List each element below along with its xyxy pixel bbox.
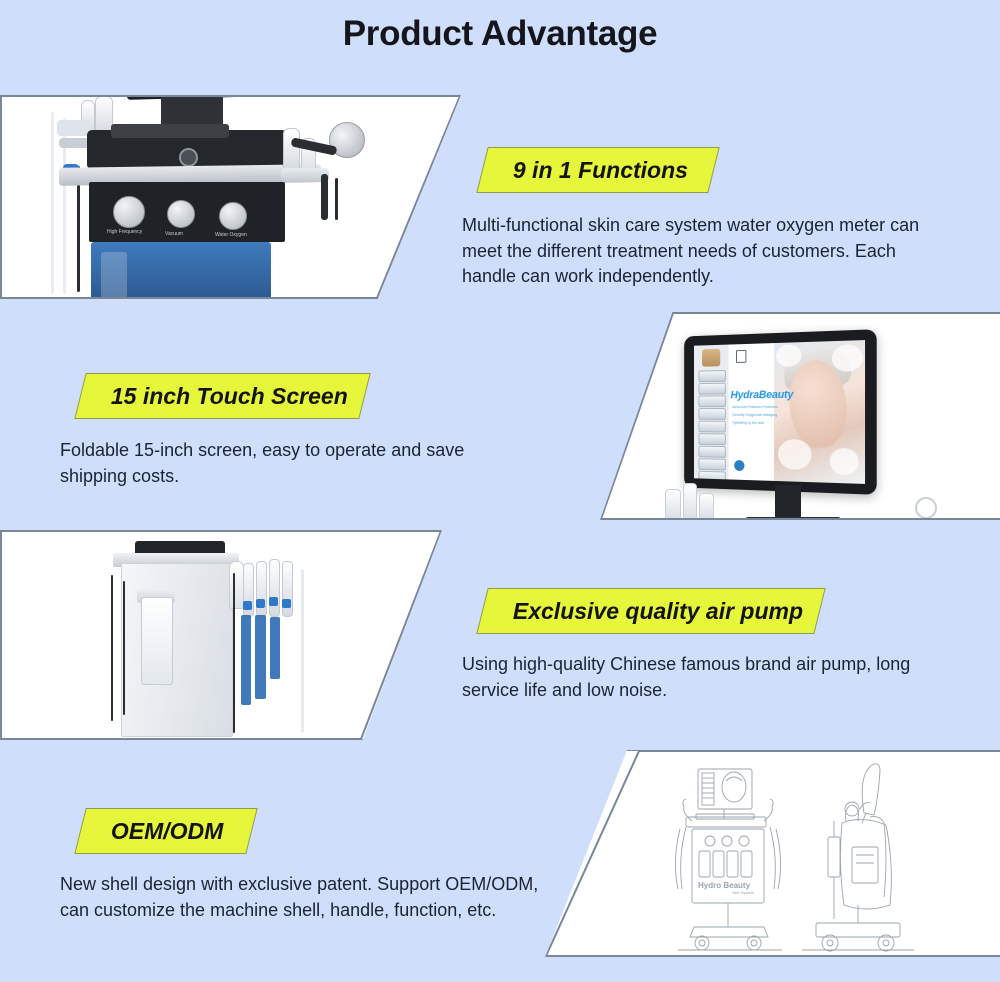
product-photo-touch-screen: HydraBeauty Advanced Platinum Protection…	[600, 312, 1000, 520]
badge-label: Exclusive quality air pump	[483, 598, 803, 625]
screen-menu-button[interactable]	[698, 395, 725, 407]
screen-model-photo	[774, 340, 865, 484]
monitor-screen: HydraBeauty Advanced Platinum Protection…	[694, 340, 865, 484]
black-hose-loop	[111, 575, 113, 721]
machine-illustration-side	[93, 539, 323, 739]
dial-high-frequency	[113, 196, 145, 228]
accessory-handle-c	[699, 493, 714, 520]
badge-oem-odm: OEM/ODM	[74, 808, 257, 854]
accessory-ring	[915, 497, 937, 519]
badge-exclusive-quality-air-pump: Exclusive quality air pump	[476, 588, 825, 634]
handle-cap-1	[243, 601, 252, 610]
wand-dark	[321, 174, 328, 220]
center-tube-dark	[233, 573, 235, 733]
accessory-handle-b	[683, 483, 697, 520]
clear-tube-right	[301, 569, 304, 733]
drawing-sub-caption: Skin System	[732, 890, 755, 895]
photo-canvas-3	[1, 531, 441, 739]
badge-label: OEM/ODM	[81, 818, 223, 845]
dial-label-vacuum: Vacuum	[165, 231, 183, 237]
product-photo-patent-drawings: Hydro Beauty Skin System	[545, 750, 1000, 957]
water-splash	[830, 448, 859, 476]
screen-subtitle-line: Detoxify Oxygenate Antiaging	[732, 413, 777, 417]
monitor-illustration: HydraBeauty Advanced Platinum Protection…	[657, 321, 957, 516]
screen-menu-button[interactable]	[698, 370, 725, 382]
control-panel: High Frequency Vacuum Water Oxygen	[89, 182, 285, 242]
machine-illustration-front: High Frequency Vacuum Water Oxygen	[29, 95, 359, 299]
left-manifold	[57, 120, 91, 136]
tank-highlight	[101, 252, 127, 299]
drawing-caption: Hydro Beauty	[698, 881, 751, 890]
description-15-inch-touch-screen: Foldable 15-inch screen, easy to operate…	[60, 438, 530, 489]
description-exclusive-quality-air-pump: Using high-quality Chinese famous brand …	[462, 652, 932, 703]
water-splash	[832, 344, 863, 372]
sidebar-avatar-icon	[702, 349, 720, 367]
monitor-stand-neck	[775, 485, 801, 520]
screen-menu-button[interactable]	[698, 383, 725, 395]
dial-water-oxygen	[219, 202, 247, 230]
screen-menu-button[interactable]	[698, 446, 725, 458]
screen-menu-button[interactable]	[698, 421, 725, 433]
screen-menu-button[interactable]	[698, 408, 725, 420]
handle-slot-3	[269, 559, 280, 617]
dial-vacuum	[167, 200, 195, 228]
patent-line-drawing-svg: Hydro Beauty Skin System	[546, 751, 1000, 956]
screen-footer-icon	[734, 460, 744, 471]
photo-canvas-2: HydraBeauty Advanced Platinum Protection…	[601, 313, 1000, 519]
screen-header-icon	[736, 350, 746, 363]
page-title: Product Advantage	[0, 14, 1000, 54]
photo-canvas-1: High Frequency Vacuum Water Oxygen	[1, 96, 460, 298]
screen-brand-title: HydraBeauty	[730, 389, 793, 401]
handle-slot-2	[256, 561, 267, 617]
monitor-bezel: HydraBeauty Advanced Platinum Protection…	[684, 329, 877, 495]
photo-canvas-4: Hydro Beauty Skin System	[546, 751, 1000, 956]
screen-menu-button[interactable]	[698, 471, 725, 484]
product-advantage-page: Product Advantage	[0, 0, 1000, 982]
left-manifold-lower	[59, 138, 89, 148]
blue-accent-1	[241, 615, 251, 705]
screen-menu-button[interactable]	[698, 433, 725, 445]
badge-label: 9 in 1 Functions	[483, 157, 688, 184]
screen-sidebar	[694, 345, 729, 480]
handle-cap-3	[269, 597, 278, 606]
upper-bottle	[229, 561, 244, 609]
product-photo-front-machine: High Frequency Vacuum Water Oxygen	[0, 95, 461, 299]
glass-reservoir	[141, 597, 173, 685]
accessory-handle-a	[665, 489, 681, 520]
screen-subtitle-line: Hydrating by the wall	[732, 421, 764, 425]
machine-top-inset	[111, 124, 229, 138]
product-photo-side-machine	[0, 530, 442, 740]
handle-slot-4	[282, 561, 293, 617]
screen-subtitle-line: Advanced Platinum Protection	[732, 405, 778, 409]
dial-label-water-oxygen: Water Oxygen	[215, 232, 247, 238]
handle-cap-4	[282, 599, 291, 608]
handle-cap-2	[256, 599, 265, 608]
wand-cable	[335, 178, 338, 220]
blue-accent-2	[255, 615, 266, 699]
description-9-in-1-functions: Multi-functional skin care system water …	[462, 213, 940, 290]
description-oem-odm: New shell design with exclusive patent. …	[60, 872, 540, 923]
badge-9-in-1-functions: 9 in 1 Functions	[476, 147, 719, 193]
water-splash	[778, 439, 812, 470]
screen-menu-button[interactable]	[698, 458, 725, 470]
badge-label: 15 inch Touch Screen	[81, 383, 348, 410]
power-button	[179, 148, 198, 167]
blue-accent-3	[270, 617, 280, 679]
black-hose-loop-2	[123, 581, 125, 715]
hose-left-1	[51, 112, 54, 294]
dial-label-high-frequency: High Frequency	[107, 229, 142, 235]
monitor-stand-base	[745, 517, 841, 520]
badge-15-inch-touch-screen: 15 inch Touch Screen	[74, 373, 370, 419]
